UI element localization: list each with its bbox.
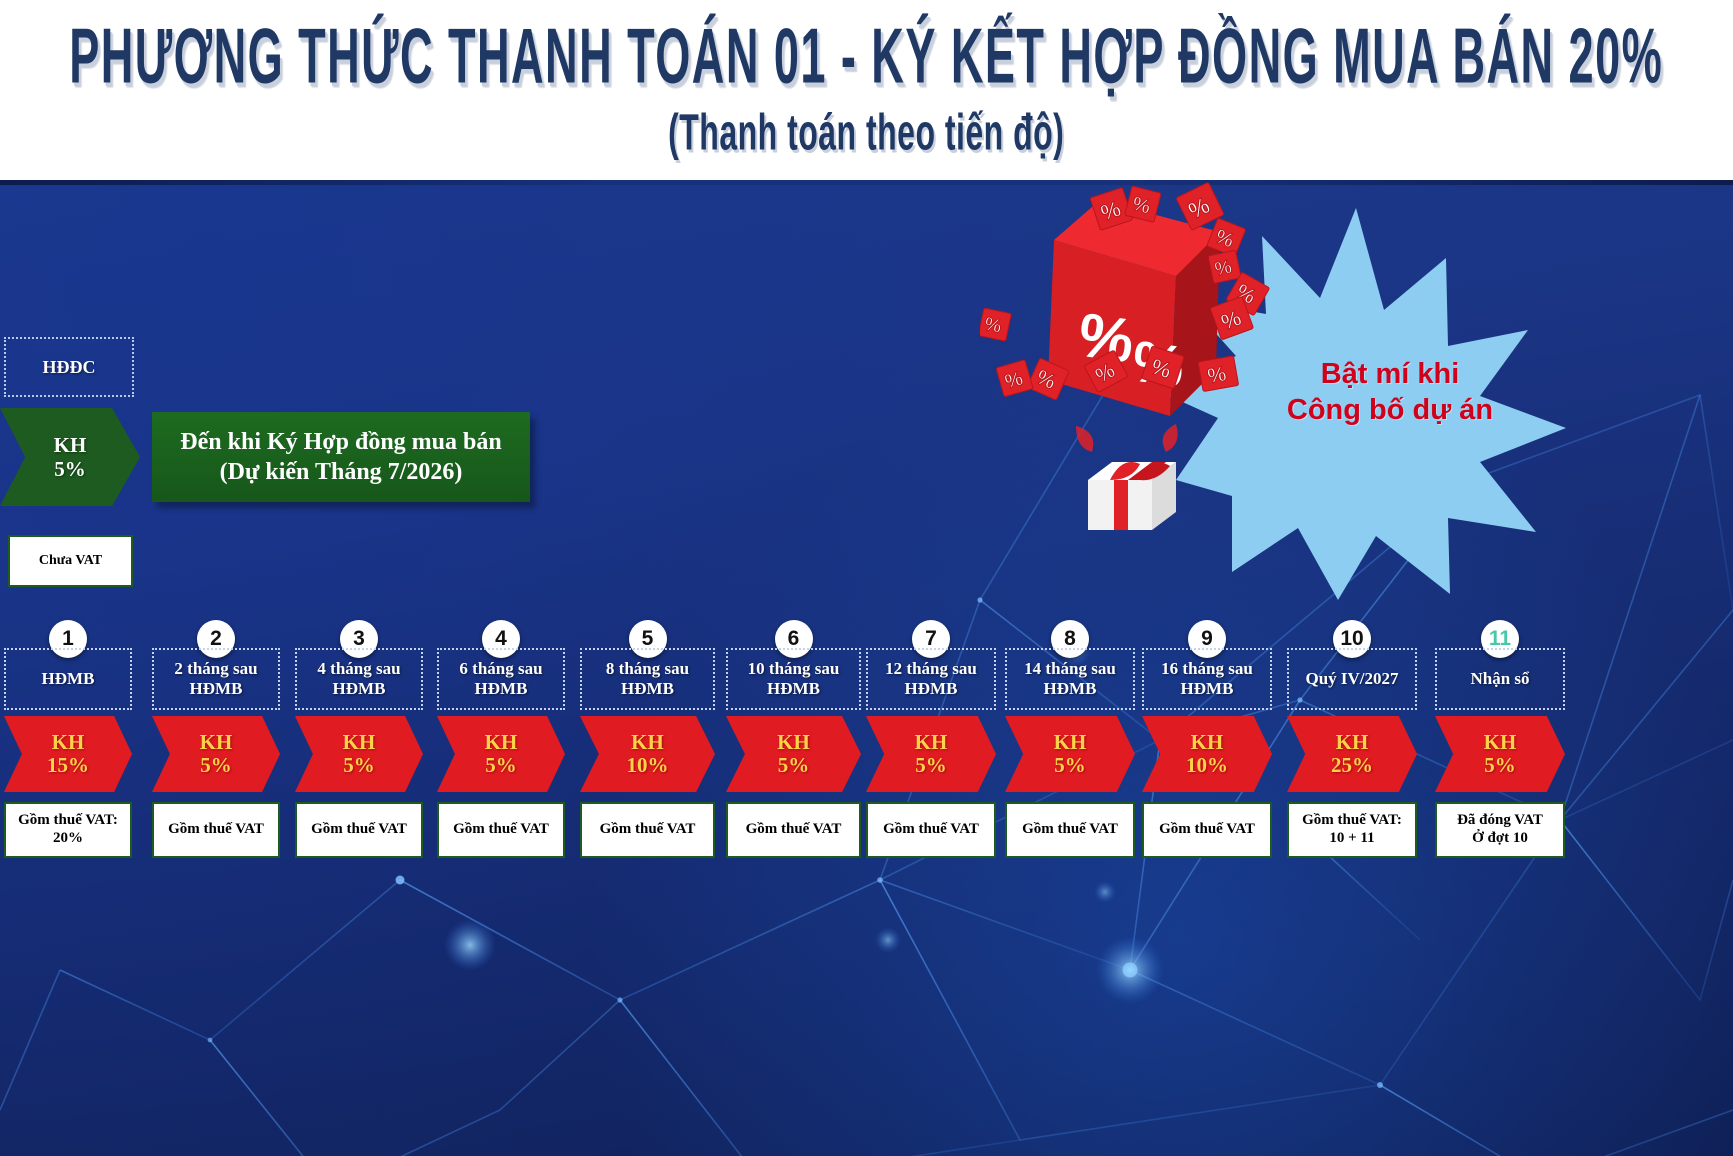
vat-note-box: Gồm thuế VAT <box>152 802 280 858</box>
stage-label-box: 6 tháng sauHĐMB <box>437 648 565 710</box>
kh-percent: 5% <box>343 754 375 777</box>
stage-line2: HĐMB <box>1044 679 1097 698</box>
chua-vat-box: Chưa VAT <box>8 535 133 587</box>
kh-green-percent: 5% <box>54 457 86 481</box>
green-milestone-banner: Đến khi Ký Hợp đồng mua bán (Dự kiến Thá… <box>152 412 530 502</box>
vat-note-box: Gồm thuế VAT <box>726 802 861 858</box>
kh-red-chevron: KH 5% <box>866 716 996 792</box>
vat-line1: Gồm thuế VAT <box>600 821 696 839</box>
vat-line1: Gồm thuế VAT <box>453 821 549 839</box>
content-stage: HĐĐC KH 5% Đến khi Ký Hợp đồng mua bán (… <box>0 180 1733 1156</box>
stage-line1: 16 tháng sau <box>1161 659 1253 678</box>
gift-box-icon <box>1076 424 1178 530</box>
vat-line1: Gồm thuế VAT: <box>1302 812 1402 830</box>
vat-line2: Ở đợt 10 <box>1472 830 1528 848</box>
kh-red-chevron: KH 5% <box>1435 716 1565 792</box>
page-header: PHƯƠNG THỨC THANH TOÁN 01 - KÝ KẾT HỢP Đ… <box>0 0 1733 180</box>
chua-vat-label: Chưa VAT <box>39 553 102 569</box>
stage-line2: HĐMB <box>621 679 674 698</box>
kh-red-chevron: KH 5% <box>726 716 861 792</box>
vat-line1: Gồm thuế VAT <box>883 821 979 839</box>
hddc-box: HĐĐC <box>4 337 134 397</box>
stage-label-box: HĐMB <box>4 648 132 710</box>
vat-line1: Gồm thuế VAT <box>1022 821 1118 839</box>
kh-label: KH <box>1054 731 1087 754</box>
vat-note-box: Gồm thuế VAT <box>1005 802 1135 858</box>
kh-label: KH <box>915 731 948 754</box>
vat-note-box: Gồm thuế VAT: 10 + 11 <box>1287 802 1417 858</box>
page-subtitle-line2: (Thanh toán theo tiến độ) <box>668 106 1064 157</box>
kh-red-chevron: KH 10% <box>580 716 715 792</box>
stage-label-box: 10 tháng sauHĐMB <box>726 648 861 710</box>
kh-label: KH <box>1191 731 1224 754</box>
stage-line2: HĐMB <box>1181 679 1234 698</box>
kh-label: KH <box>52 731 85 754</box>
vat-line2: 10 + 11 <box>1329 830 1374 848</box>
stage-line1: 4 tháng sau <box>317 659 400 678</box>
hddc-label: HĐĐC <box>43 357 96 378</box>
kh-percent: 15% <box>47 754 89 777</box>
promo-line2: Công bố dự án <box>1270 392 1510 428</box>
stage-label-box: 2 tháng sauHĐMB <box>152 648 280 710</box>
stage-line1: 6 tháng sau <box>459 659 542 678</box>
vat-note-box: Gồm thuế VAT <box>295 802 423 858</box>
stage-line1: 10 tháng sau <box>748 659 840 678</box>
kh-red-chevron: KH 25% <box>1287 716 1417 792</box>
stage-line1: Quý IV/2027 <box>1305 669 1398 688</box>
kh-label: KH <box>1484 731 1517 754</box>
stage-line2: HĐMB <box>767 679 820 698</box>
kh-green-label: KH <box>54 433 87 457</box>
stage-line1: 14 tháng sau <box>1024 659 1116 678</box>
stage-line2: HĐMB <box>905 679 958 698</box>
kh-label: KH <box>1336 731 1369 754</box>
kh-percent: 5% <box>915 754 947 777</box>
stage-line1: HĐMB <box>42 669 95 688</box>
kh-label: KH <box>485 731 518 754</box>
vat-line1: Gồm thuế VAT: <box>18 812 118 830</box>
promo-line1: Bật mí khi <box>1270 356 1510 392</box>
kh-label: KH <box>200 731 233 754</box>
stage-line1: 12 tháng sau <box>885 659 977 678</box>
stage-label-box: 16 tháng sauHĐMB <box>1142 648 1272 710</box>
vat-line1: Gồm thuế VAT <box>1159 821 1255 839</box>
vat-note-box: Gồm thuế VAT <box>866 802 996 858</box>
stage-label-box: 8 tháng sauHĐMB <box>580 648 715 710</box>
kh-percent: 5% <box>1054 754 1086 777</box>
vat-note-box: Gồm thuế VAT: 20% <box>4 802 132 858</box>
kh-red-chevron: KH 5% <box>152 716 280 792</box>
kh-percent: 5% <box>778 754 810 777</box>
green-banner-line2: (Dự kiến Tháng 7/2026) <box>220 457 463 487</box>
payment-timeline: 1 HĐMB KH 15% Gồm thuế VAT: 20% 2 2 thán… <box>0 620 1733 870</box>
green-banner-line1: Đến khi Ký Hợp đồng mua bán <box>180 427 501 457</box>
vat-note-box: Đã đóng VAT Ở đợt 10 <box>1435 802 1565 858</box>
kh-red-chevron: KH 10% <box>1142 716 1272 792</box>
kh-label: KH <box>777 731 810 754</box>
promo-burst-text: Bật mí khi Công bố dự án <box>1270 356 1510 429</box>
stage-label-box: 14 tháng sauHĐMB <box>1005 648 1135 710</box>
kh-red-chevron: KH 5% <box>437 716 565 792</box>
kh-red-chevron: KH 5% <box>1005 716 1135 792</box>
kh-percent: 5% <box>485 754 517 777</box>
stage-line1: Nhận sổ <box>1470 669 1529 688</box>
stage-line2: HĐMB <box>475 679 528 698</box>
vat-note-box: Gồm thuế VAT <box>580 802 715 858</box>
vat-line2: 20% <box>53 830 83 848</box>
page-title-line1: PHƯƠNG THỨC THANH TOÁN 01 - KÝ KẾT HỢP Đ… <box>70 17 1664 95</box>
vat-line1: Đã đóng VAT <box>1457 812 1543 830</box>
vat-line1: Gồm thuế VAT <box>168 821 264 839</box>
stage-line1: 2 tháng sau <box>174 659 257 678</box>
kh-label: KH <box>631 731 664 754</box>
vat-note-box: Gồm thuế VAT <box>1142 802 1272 858</box>
stage-line2: HĐMB <box>190 679 243 698</box>
vat-note-box: Gồm thuế VAT <box>437 802 565 858</box>
promo-burst-graphic: % % % % % % % % % % % % % % % <box>980 180 1580 600</box>
vat-line1: Gồm thuế VAT <box>311 821 407 839</box>
kh-percent: 10% <box>1186 754 1228 777</box>
kh-percent: 5% <box>1484 754 1516 777</box>
kh-percent: 5% <box>200 754 232 777</box>
kh-percent: 25% <box>1331 754 1373 777</box>
stage-label-box: 4 tháng sauHĐMB <box>295 648 423 710</box>
stage-label-box: Nhận sổ <box>1435 648 1565 710</box>
kh-red-chevron: KH 5% <box>295 716 423 792</box>
kh-label: KH <box>343 731 376 754</box>
kh-red-chevron: KH 15% <box>4 716 132 792</box>
vat-line1: Gồm thuế VAT <box>746 821 842 839</box>
stage-label-box: Quý IV/2027 <box>1287 648 1417 710</box>
kh-percent: 10% <box>627 754 669 777</box>
stage-label-box: 12 tháng sauHĐMB <box>866 648 996 710</box>
stage-line1: 8 tháng sau <box>606 659 689 678</box>
stage-line2: HĐMB <box>333 679 386 698</box>
